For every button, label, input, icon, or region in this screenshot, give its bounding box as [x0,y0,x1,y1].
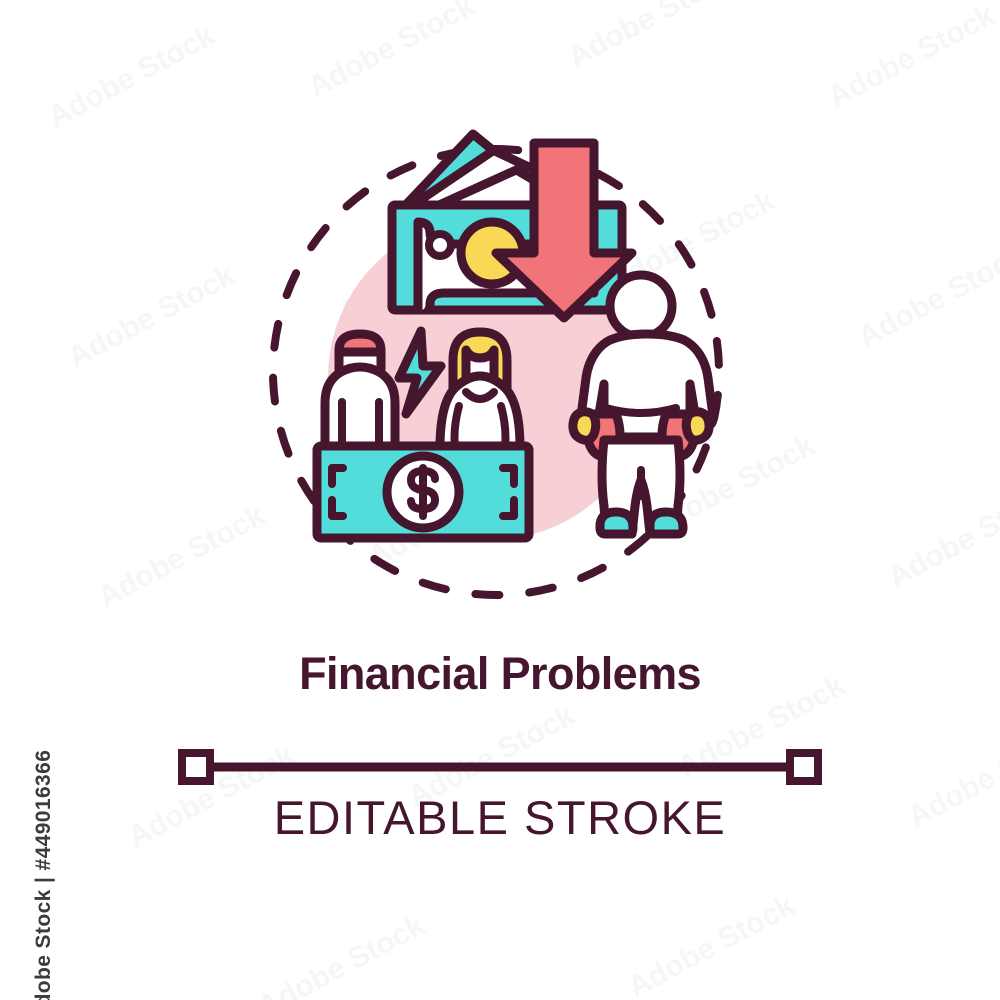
man-figure [325,334,395,448]
page-title: Financial Problems [0,648,1000,700]
editable-stroke-caption: EDITABLE STROKE [0,790,1000,845]
artboard-stage: Adobe Stock Adobe Stock Adobe Stock Adob… [0,0,1000,1000]
left-hand [573,412,596,440]
left-shoe [600,512,633,534]
concept-illustration: .ln { fill:none; stroke:#46162F; stroke-… [0,0,1000,1000]
bill-detail-circle [429,234,451,256]
right-square-handle[interactable] [790,753,818,781]
right-hand [686,412,709,440]
left-square-handle[interactable] [182,753,210,781]
dollar-sign [411,468,435,516]
large-banknote-with-dollar [317,446,529,538]
stroke-widget [182,753,818,781]
woman-figure [440,332,520,448]
right-shoe [650,512,683,534]
